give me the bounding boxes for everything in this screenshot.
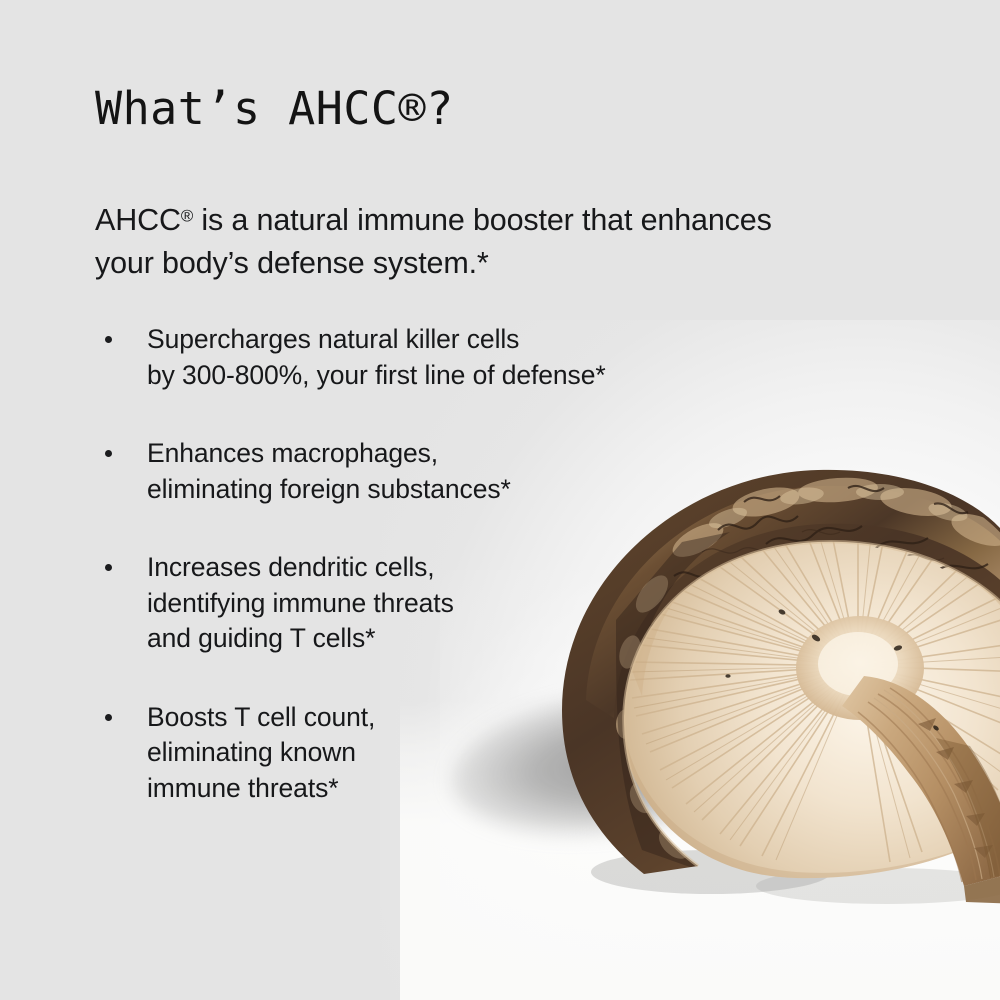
intro-text: is a natural immune booster that enhance… bbox=[95, 203, 772, 280]
list-item: Increases dendritic cells, identifying i… bbox=[103, 550, 823, 657]
bullet-dot-icon bbox=[105, 564, 112, 571]
benefit-text: Supercharges natural killer cells by 300… bbox=[147, 322, 823, 393]
brand-name: AHCC bbox=[95, 203, 181, 237]
ahcc-info-card: What’s AHCC®? AHCC® is a natural immune … bbox=[0, 0, 1000, 1000]
intro-paragraph: AHCC® is a natural immune booster that e… bbox=[95, 199, 825, 285]
benefit-text: Increases dendritic cells, identifying i… bbox=[147, 550, 823, 657]
page-title: What’s AHCC®? bbox=[95, 82, 454, 135]
list-item: Supercharges natural killer cells by 300… bbox=[103, 322, 823, 393]
benefit-text: Enhances macrophages, eliminating foreig… bbox=[147, 436, 823, 507]
list-item: Boosts T cell count, eliminating known i… bbox=[103, 700, 823, 807]
text-content: What’s AHCC®? AHCC® is a natural immune … bbox=[0, 0, 1000, 1000]
benefit-text: Boosts T cell count, eliminating known i… bbox=[147, 700, 823, 807]
registered-trademark-icon: ® bbox=[181, 206, 193, 225]
list-item: Enhances macrophages, eliminating foreig… bbox=[103, 436, 823, 507]
bullet-dot-icon bbox=[105, 714, 112, 721]
bullet-dot-icon bbox=[105, 336, 112, 343]
benefits-list: Supercharges natural killer cells by 300… bbox=[103, 322, 823, 806]
bullet-dot-icon bbox=[105, 450, 112, 457]
